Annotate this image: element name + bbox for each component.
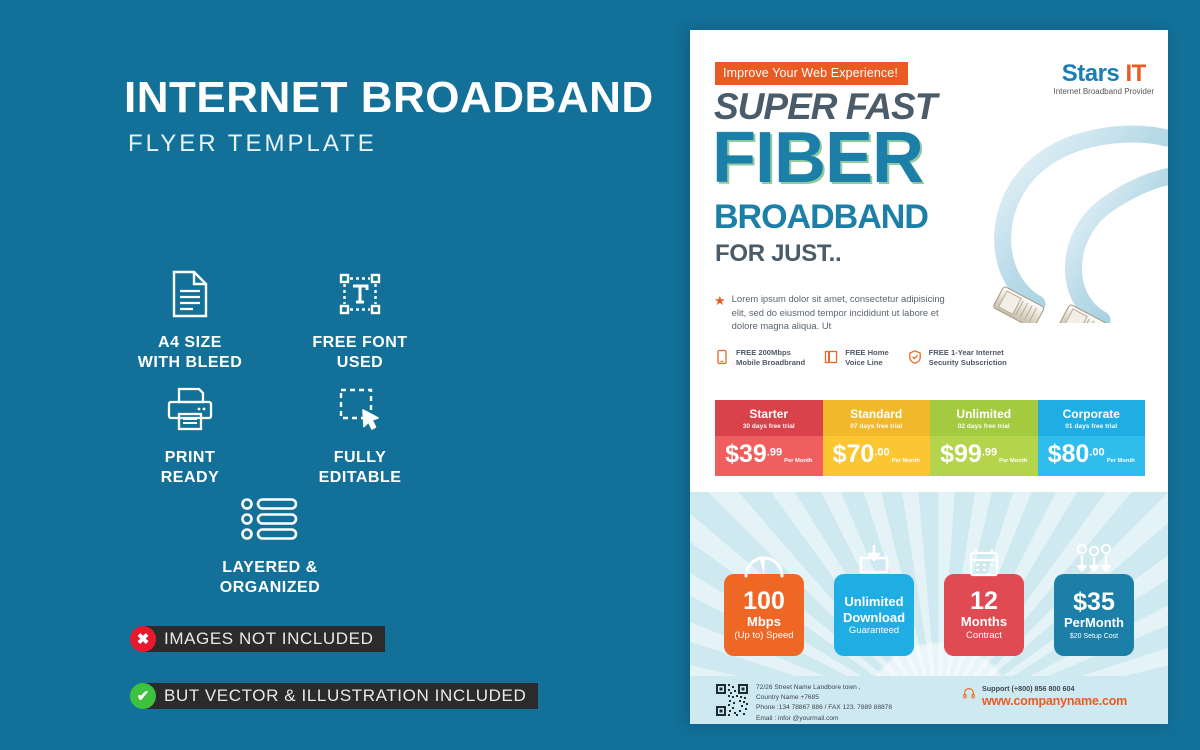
plan-trial: 02 days free trial xyxy=(930,423,1038,430)
logo-name-part2: IT xyxy=(1125,60,1145,87)
price-column-standard[interactable]: Standard 07 days free trial $70.00Per Mo… xyxy=(823,400,931,476)
brand-logo: Stars IT Internet Broadband Provider xyxy=(1053,60,1154,96)
price-column-corporate[interactable]: Corporate 01 days free trial $80.00Per M… xyxy=(1038,400,1146,476)
tile-mid: PerMonth xyxy=(1064,615,1124,631)
feature-label: A4 SIZEWITH BLEED xyxy=(110,333,270,373)
freebie-line2: Voice Line xyxy=(845,358,882,367)
price-body: $99.99Per Month xyxy=(930,436,1038,476)
tile-speed: 100 Mbps (Up to) Speed xyxy=(724,540,804,656)
shield-check-icon xyxy=(907,349,923,365)
body-text: Lorem ipsum dolor sit amet, consectetur … xyxy=(732,292,959,333)
tile-mid2: Download xyxy=(843,610,905,626)
price-header: Corporate 01 days free trial xyxy=(1038,400,1146,436)
body-copy: ★ Lorem ipsum dolor sit amet, consectetu… xyxy=(714,292,959,333)
tagline-badge: Improve Your Web Experience! xyxy=(715,62,908,85)
feature-tiles: 100 Mbps (Up to) Speed Unlimited Downloa… xyxy=(724,540,1134,656)
mobile-icon xyxy=(714,349,730,365)
address-line1: 72/26 Street Name Landbore town , xyxy=(756,683,892,693)
freebies-row: FREE 200Mbps Mobile Broadbrand FREE Home… xyxy=(714,348,1044,369)
price-column-unlimited[interactable]: Unlimited 02 days free trial $99.99Per M… xyxy=(930,400,1038,476)
headset-icon xyxy=(962,686,976,700)
price-header: Unlimited 02 days free trial xyxy=(930,400,1038,436)
tile-body: $35 PerMonth $20 Setup Cost xyxy=(1054,574,1134,656)
plan-cents: .99 xyxy=(982,447,997,459)
freebie-line2: Security Subscriction xyxy=(929,358,1007,367)
text-tool-icon xyxy=(280,265,440,323)
notice-images-not-included: ✖ IMAGES NOT INCLUDED xyxy=(130,626,385,652)
address-line3: Phone :134 78867 886 / FAX 123. 7889 888… xyxy=(756,703,892,713)
address-line4: Email : infor @yourmail.com xyxy=(756,714,892,724)
plan-period: Per Month xyxy=(784,458,812,464)
plan-name: Starter xyxy=(715,407,823,421)
price-header: Standard 07 days free trial xyxy=(823,400,931,436)
plan-cents: .99 xyxy=(767,447,782,459)
tile-big: 100 xyxy=(743,589,785,614)
document-icon xyxy=(110,265,270,323)
cross-circle-icon: ✖ xyxy=(130,626,156,652)
plan-price: $70 xyxy=(833,440,875,468)
tile-body: 12 Months Contract xyxy=(944,574,1024,656)
plan-name: Corporate xyxy=(1038,407,1146,421)
flyer-preview: Improve Your Web Experience! Stars IT In… xyxy=(690,30,1168,724)
feature-label: PRINTREADY xyxy=(110,448,270,488)
tile-tiny: $20 Setup Cost xyxy=(1070,632,1118,641)
tile-body: Unlimited Download Guaranteed xyxy=(834,574,914,656)
notice-text: BUT VECTOR & ILLUSTRATION INCLUDED xyxy=(142,683,538,709)
tile-sml: (Up to) Speed xyxy=(734,630,793,642)
freebie-line1: FREE 200Mbps xyxy=(736,348,791,357)
freebie-text: FREE 200Mbps Mobile Broadbrand xyxy=(736,348,805,369)
ethernet-cable-illustration xyxy=(952,108,1168,323)
page-title: INTERNET BROADBAND xyxy=(124,76,654,120)
plan-cents: .00 xyxy=(1089,447,1104,459)
tile-mid: Unlimited xyxy=(844,594,903,610)
tile-download: Unlimited Download Guaranteed xyxy=(834,540,914,656)
support-text: Support (+800) 856 800 604 xyxy=(982,684,1127,693)
feature-free-font: FREE FONTUSED xyxy=(280,265,440,373)
plan-trial: 07 days free trial xyxy=(823,423,931,430)
tile-body: 100 Mbps (Up to) Speed xyxy=(724,574,804,656)
price-body: $39.99Per Month xyxy=(715,436,823,476)
freebie-item: FREE 200Mbps Mobile Broadbrand xyxy=(714,348,805,369)
freebie-item: FREE Home Voice Line xyxy=(823,348,888,369)
freebie-text: FREE 1-Year Internet Security Subscricti… xyxy=(929,348,1007,369)
speedometer-icon xyxy=(724,540,804,578)
printer-icon xyxy=(110,380,270,438)
price-body: $70.00Per Month xyxy=(823,436,931,476)
price-body: $80.00Per Month xyxy=(1038,436,1146,476)
page-subtitle: FLYER TEMPLATE xyxy=(128,130,377,158)
tile-permonth: $35 PerMonth $20 Setup Cost xyxy=(1054,540,1134,656)
plan-price: $99 xyxy=(940,440,982,468)
price-column-starter[interactable]: Starter 30 days free trial $39.99Per Mon… xyxy=(715,400,823,476)
tile-big: $35 xyxy=(1073,590,1115,615)
download-icon xyxy=(834,540,914,578)
address-block: 72/26 Street Name Landbore town , Countr… xyxy=(756,683,892,724)
money-down-icon xyxy=(1054,540,1134,578)
freebie-item: FREE 1-Year Internet Security Subscricti… xyxy=(907,348,1007,369)
price-header: Starter 30 days free trial xyxy=(715,400,823,436)
notice-vector-included: ✔ BUT VECTOR & ILLUSTRATION INCLUDED xyxy=(130,683,538,709)
address-line2: Country Name +7685 xyxy=(756,693,892,703)
selection-cursor-icon xyxy=(280,380,440,438)
freebie-line1: FREE 1-Year Internet xyxy=(929,348,1004,357)
tile-mid: Mbps xyxy=(747,614,781,630)
feature-label: FULLYEDITABLE xyxy=(280,448,440,488)
pricing-table: Starter 30 days free trial $39.99Per Mon… xyxy=(715,400,1145,476)
check-circle-icon: ✔ xyxy=(130,683,156,709)
plan-period: Per Month xyxy=(1107,458,1135,464)
plan-trial: 01 days free trial xyxy=(1038,423,1146,430)
promo-panel: INTERNET BROADBAND FLYER TEMPLATE A4 SIZ… xyxy=(0,0,690,750)
plan-trial: 30 days free trial xyxy=(715,423,823,430)
plan-period: Per Month xyxy=(999,458,1027,464)
plan-price: $39 xyxy=(725,440,767,468)
tile-sml: Guaranteed xyxy=(849,625,899,637)
tile-contract: 12 Months Contract xyxy=(944,540,1024,656)
freebie-text: FREE Home Voice Line xyxy=(845,348,888,369)
feature-layered-organized: LAYERED &ORGANIZED xyxy=(190,490,350,598)
notice-text: IMAGES NOT INCLUDED xyxy=(142,626,385,652)
feature-print-ready: PRINTREADY xyxy=(110,380,270,488)
website-url[interactable]: www.companyname.com xyxy=(982,694,1127,708)
layers-list-icon xyxy=(190,490,350,548)
freebie-line1: FREE Home xyxy=(845,348,888,357)
phone-book-icon xyxy=(823,349,839,365)
headline-line3: BROADBAND xyxy=(714,198,928,237)
feature-a4-size: A4 SIZEWITH BLEED xyxy=(110,265,270,373)
feature-label: FREE FONTUSED xyxy=(280,333,440,373)
plan-name: Unlimited xyxy=(930,407,1038,421)
star-icon: ★ xyxy=(714,294,726,333)
tile-mid: Months xyxy=(961,614,1007,630)
plan-period: Per Month xyxy=(892,458,920,464)
plan-cents: .00 xyxy=(874,447,889,459)
logo-text: Stars IT xyxy=(1053,60,1154,88)
qr-code-icon xyxy=(715,683,749,717)
tile-sml: Contract xyxy=(966,630,1002,642)
feature-label: LAYERED &ORGANIZED xyxy=(190,558,350,598)
headline-line2: FIBER xyxy=(712,124,923,192)
calendar-icon xyxy=(944,540,1024,578)
logo-tagline: Internet Broadband Provider xyxy=(1053,87,1154,96)
freebie-line2: Mobile Broadbrand xyxy=(736,358,805,367)
tile-big: 12 xyxy=(970,589,998,614)
support-block: Support (+800) 856 800 604 www.companyna… xyxy=(962,684,1127,708)
headline-line4: FOR JUST.. xyxy=(715,240,841,268)
feature-fully-editable: FULLYEDITABLE xyxy=(280,380,440,488)
plan-price: $80 xyxy=(1048,440,1090,468)
logo-name-part1: Stars xyxy=(1062,60,1120,87)
plan-name: Standard xyxy=(823,407,931,421)
